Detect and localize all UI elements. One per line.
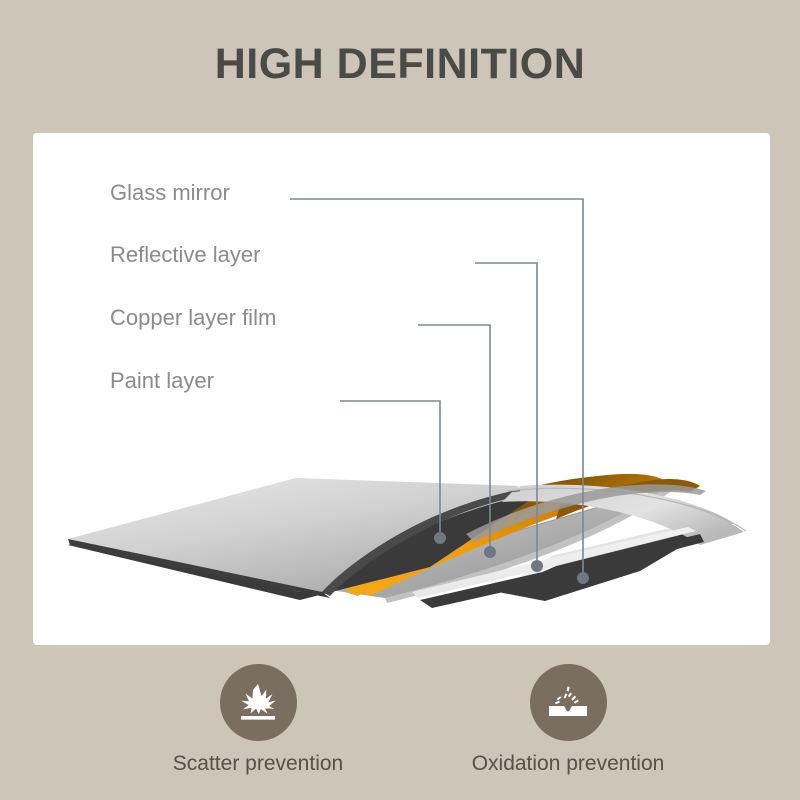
callout-label-copper-layer-film: Copper layer film [110,305,276,331]
feature-label-oxidation-prevention: Oxidation prevention [453,751,683,777]
feature-oxidation-prevention: Oxidation prevention [453,664,683,777]
dented-slab-icon [544,679,592,727]
callout-label-glass-mirror: Glass mirror [110,180,230,206]
oxidation-prevention-badge [530,664,607,741]
scatter-prevention-badge [220,664,297,741]
feature-scatter-prevention: Scatter prevention [143,664,373,777]
product-infographic: HIGH DEFINITION [0,0,800,800]
callout-label-paint-layer: Paint layer [110,368,214,394]
callout-label-reflective-layer: Reflective layer [110,242,260,268]
feature-label-scatter-prevention: Scatter prevention [143,751,373,777]
page-title: HIGH DEFINITION [0,38,800,90]
shatter-burst-icon [234,679,282,727]
